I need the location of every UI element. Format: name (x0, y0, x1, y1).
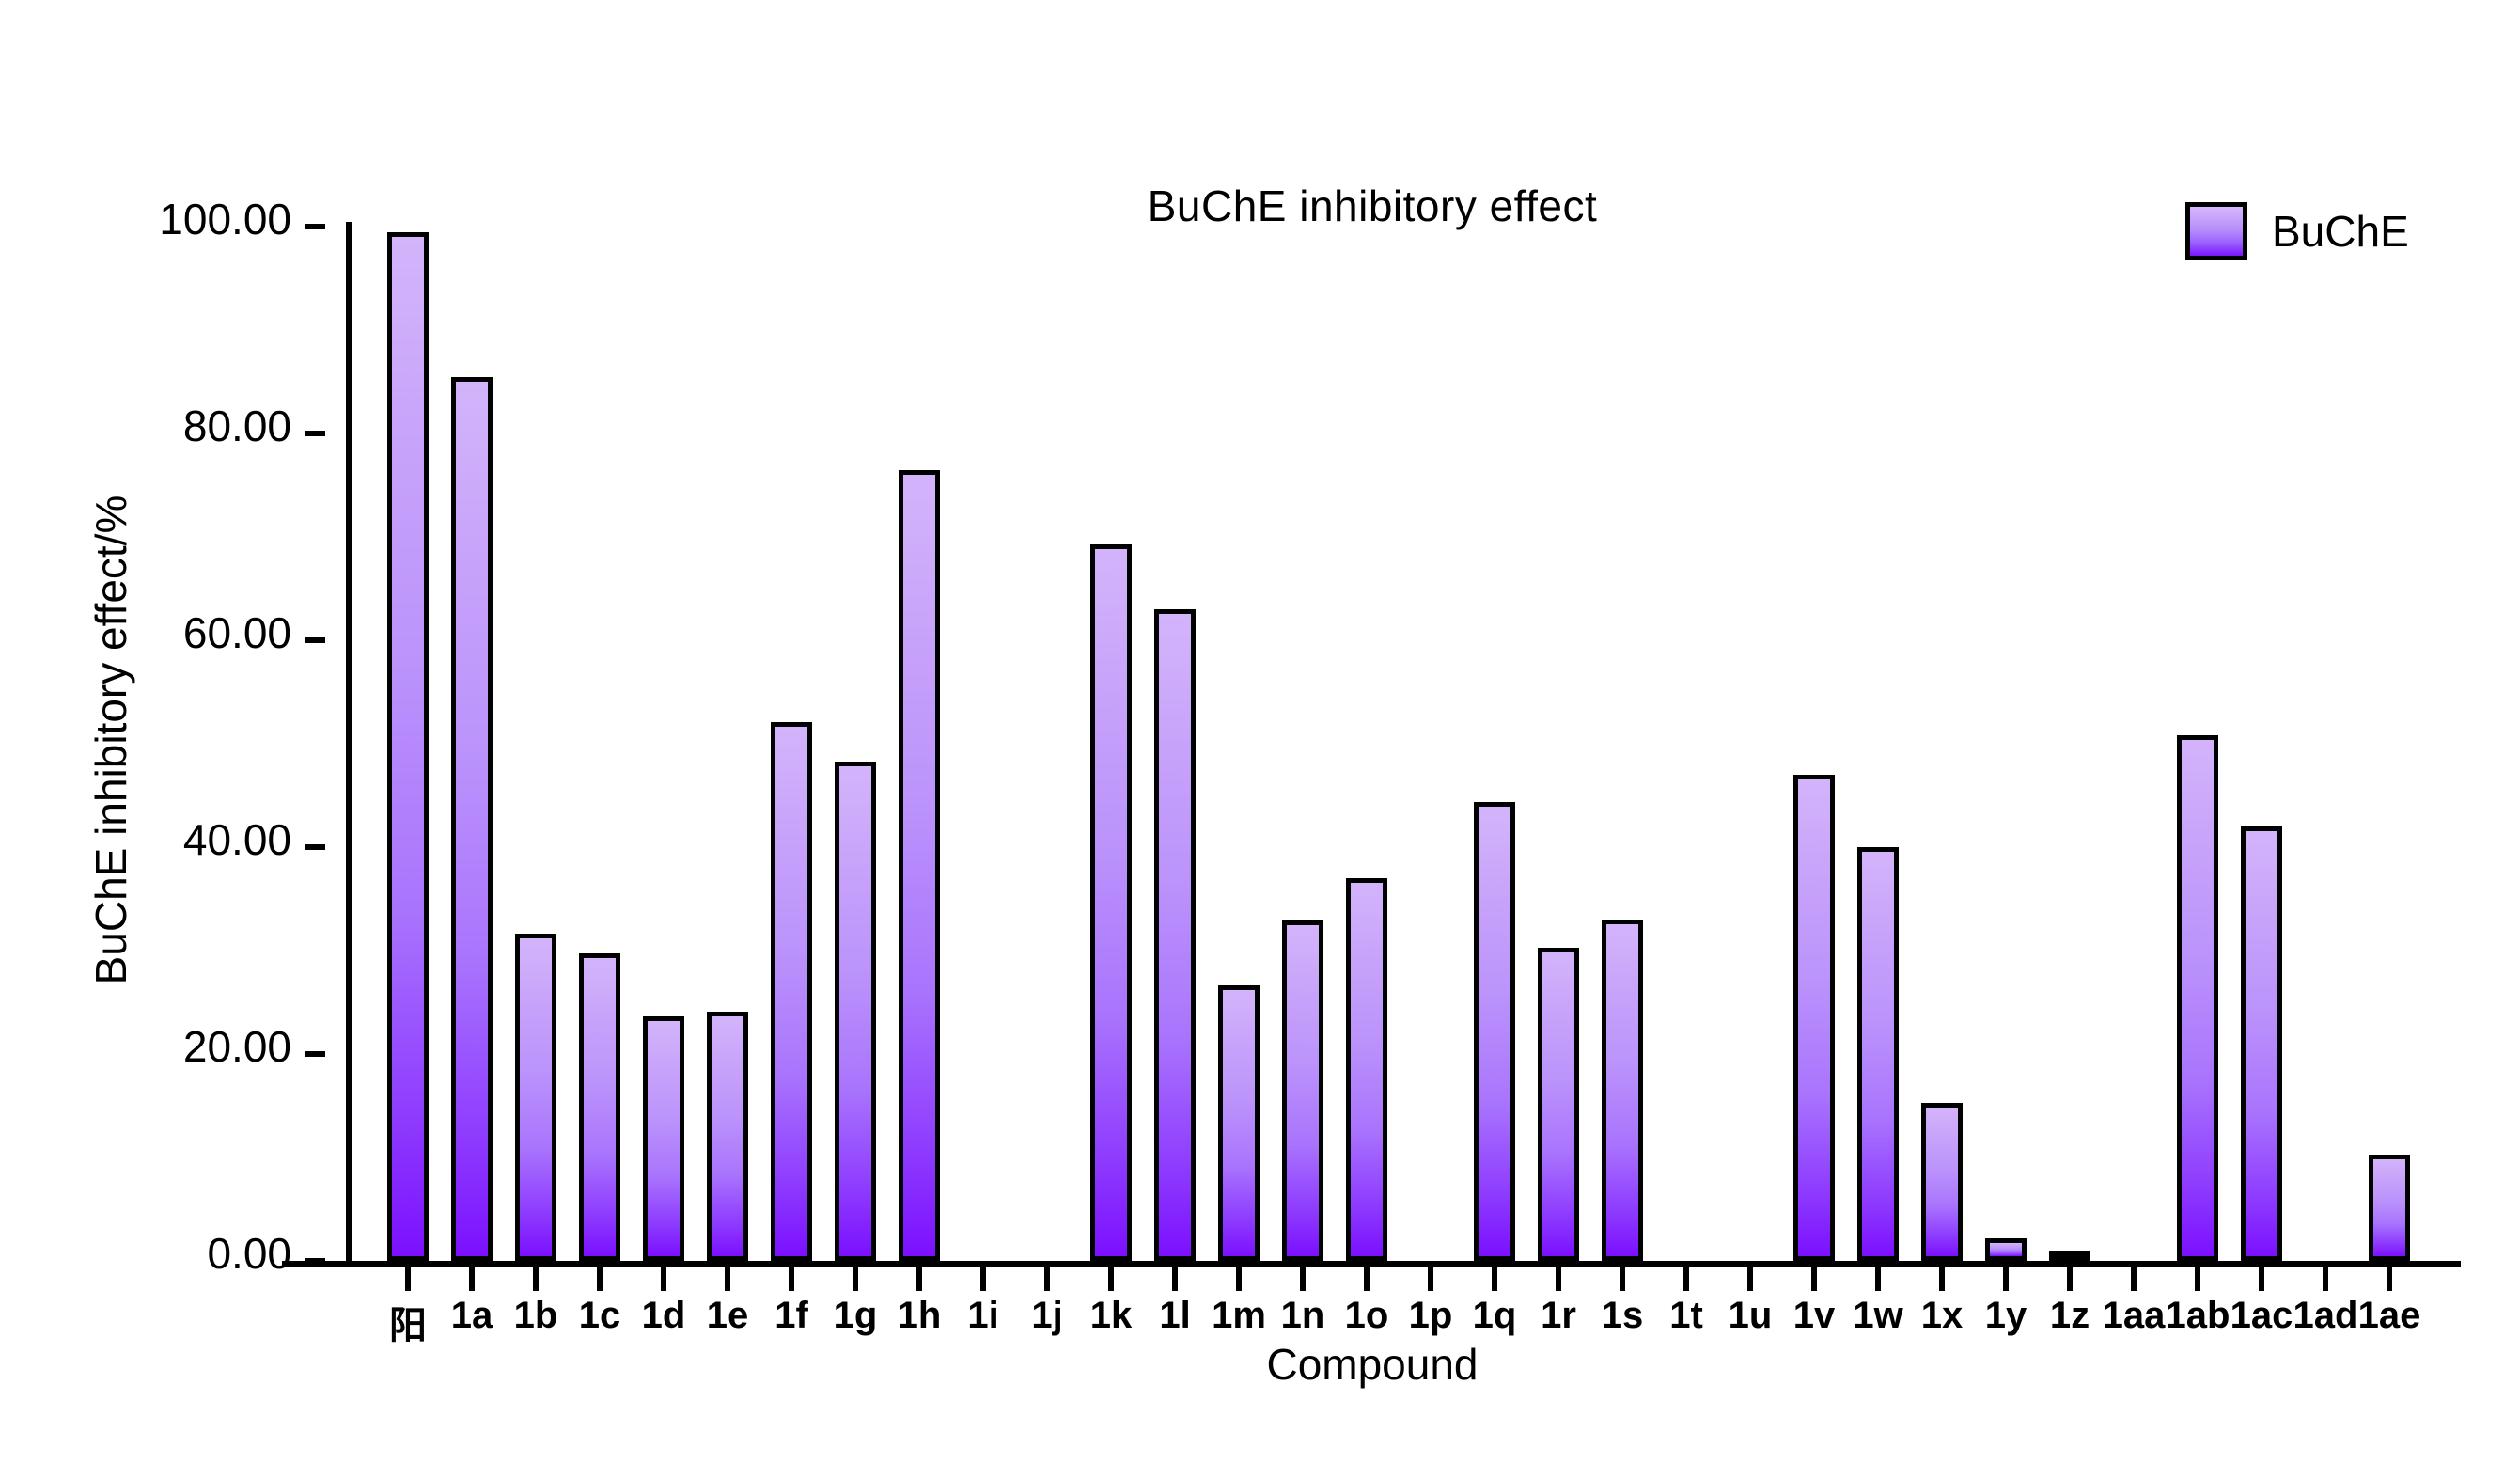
bar-1q (1474, 802, 1515, 1261)
bar-1ab (2177, 735, 2218, 1261)
y-tick-mark (305, 431, 325, 436)
x-tick-mark (597, 1267, 603, 1291)
bar-1h (899, 470, 940, 1262)
y-tick-label: 100.00 (159, 194, 291, 244)
x-tick-label-1q: 1q (1473, 1295, 1517, 1337)
x-tick-label-1y: 1y (1985, 1295, 2027, 1337)
x-tick-mark (1875, 1267, 1881, 1291)
x-tick-label-1a: 1a (451, 1295, 493, 1337)
y-axis-line (346, 222, 352, 1266)
x-tick-label-1o: 1o (1345, 1295, 1389, 1337)
x-tick-label-1u: 1u (1729, 1295, 1773, 1337)
bar-1ac (2241, 826, 2282, 1261)
y-tick-label: 80.00 (183, 401, 291, 451)
x-tick-label-1b: 1b (514, 1295, 558, 1337)
x-tick-mark (1811, 1267, 1817, 1291)
y-tick-40.00: 40.00 (0, 844, 325, 850)
x-tick-mark (2195, 1267, 2200, 1291)
y-tick-0.00: 0.00 (0, 1258, 325, 1264)
x-tick-mark (533, 1267, 539, 1291)
x-tick-label-1t: 1t (1669, 1295, 1703, 1337)
x-tick-mark (1108, 1267, 1114, 1291)
x-tick-label-1ae: 1ae (2358, 1295, 2421, 1337)
x-tick-label-阳: 阳 (389, 1295, 427, 1349)
bar-1ae (2369, 1155, 2410, 1261)
x-tick-mark (1747, 1267, 1753, 1291)
bar-1s (1602, 920, 1643, 1261)
y-tick-label: 0.00 (207, 1228, 291, 1279)
bar-1d (643, 1016, 684, 1261)
x-tick-label-1k: 1k (1090, 1295, 1133, 1337)
bar-1k (1090, 544, 1132, 1261)
bar-1y (1985, 1238, 2027, 1261)
bar-1m (1218, 985, 1260, 1261)
y-tick-label: 60.00 (183, 607, 291, 658)
x-tick-mark (661, 1267, 666, 1291)
x-tick-label-1p: 1p (1409, 1295, 1453, 1337)
x-tick-mark (1172, 1267, 1178, 1291)
bar-阳 (387, 232, 429, 1262)
x-tick-mark (405, 1267, 411, 1291)
bar-1b (515, 934, 556, 1261)
x-tick-label-1m: 1m (1212, 1295, 1266, 1337)
x-tick-mark (1556, 1267, 1561, 1291)
bar-1r (1538, 948, 1579, 1261)
y-tick-mark (305, 1051, 325, 1057)
x-tick-label-1j: 1j (1031, 1295, 1062, 1337)
bar-1o (1346, 878, 1387, 1261)
plot-area (355, 227, 2457, 1261)
y-tick-100.00: 100.00 (0, 224, 325, 229)
x-tick-label-1ab: 1ab (2166, 1295, 2230, 1337)
x-tick-mark (1044, 1267, 1050, 1291)
x-tick-label-1d: 1d (642, 1295, 686, 1337)
x-tick-mark (2259, 1267, 2264, 1291)
chart-title: BuChE inhibitory effect (949, 181, 1795, 231)
bar-1g (835, 762, 876, 1261)
bar-1x (1921, 1103, 1963, 1261)
x-tick-mark (2323, 1267, 2328, 1291)
bar-1a (451, 377, 493, 1262)
x-tick-label-1i: 1i (967, 1295, 998, 1337)
x-tick-mark (1683, 1267, 1689, 1291)
x-tick-label-1g: 1g (834, 1295, 878, 1337)
y-tick-mark (305, 844, 325, 850)
x-tick-mark (725, 1267, 730, 1291)
x-tick-mark (1492, 1267, 1497, 1291)
bar-chart: BuChE inhibitory effect BuChE BuChE inhi… (0, 0, 2520, 1479)
y-axis-title: BuChE inhibitory effect/% (86, 270, 136, 1210)
x-tick-mark (2387, 1267, 2392, 1291)
x-tick-mark (2131, 1267, 2137, 1291)
x-tick-mark (2003, 1267, 2009, 1291)
x-tick-mark (789, 1267, 794, 1291)
x-tick-label-1aa: 1aa (2103, 1295, 2166, 1337)
y-tick-20.00: 20.00 (0, 1051, 325, 1057)
bar-1e (707, 1012, 748, 1261)
x-tick-label-1v: 1v (1793, 1295, 1836, 1337)
x-tick-mark (1428, 1267, 1433, 1291)
y-tick-mark (305, 224, 325, 229)
bar-1n (1282, 920, 1323, 1261)
bar-1w (1857, 847, 1899, 1261)
x-tick-label-1f: 1f (775, 1295, 808, 1337)
x-tick-label-1l: 1l (1159, 1295, 1190, 1337)
x-tick-mark (1939, 1267, 1945, 1291)
x-tick-label-1c: 1c (579, 1295, 621, 1337)
x-tick-mark (469, 1267, 475, 1291)
y-tick-80.00: 80.00 (0, 431, 325, 436)
y-tick-60.00: 60.00 (0, 637, 325, 643)
bar-1v (1793, 775, 1835, 1261)
x-tick-label-1r: 1r (1541, 1295, 1576, 1337)
bar-1f (771, 722, 812, 1261)
x-tick-label-1s: 1s (1602, 1295, 1644, 1337)
x-tick-mark (853, 1267, 858, 1291)
bar-1c (579, 953, 620, 1261)
x-tick-label-1n: 1n (1281, 1295, 1325, 1337)
y-tick-label: 40.00 (183, 814, 291, 865)
x-tick-label-1z: 1z (2050, 1295, 2090, 1337)
x-tick-label-1ad: 1ad (2293, 1295, 2358, 1337)
x-tick-mark (1364, 1267, 1370, 1291)
x-tick-mark (916, 1267, 922, 1291)
x-tick-label-1h: 1h (898, 1295, 942, 1337)
x-tick-mark (2067, 1267, 2073, 1291)
x-tick-label-1ac: 1ac (2230, 1295, 2293, 1337)
x-tick-mark (980, 1267, 986, 1291)
x-tick-mark (1236, 1267, 1242, 1291)
bar-1l (1154, 609, 1196, 1261)
x-tick-label-1x: 1x (1921, 1295, 1964, 1337)
x-axis-title: Compound (1015, 1339, 1730, 1390)
bars-layer (355, 227, 2457, 1261)
y-tick-mark (305, 1258, 325, 1264)
bar-1z (2049, 1251, 2090, 1261)
y-tick-label: 20.00 (183, 1021, 291, 1072)
x-tick-mark (1620, 1267, 1625, 1291)
x-tick-label-1w: 1w (1853, 1295, 1902, 1337)
x-tick-mark (1300, 1267, 1306, 1291)
y-tick-mark (305, 637, 325, 643)
x-tick-label-1e: 1e (707, 1295, 749, 1337)
